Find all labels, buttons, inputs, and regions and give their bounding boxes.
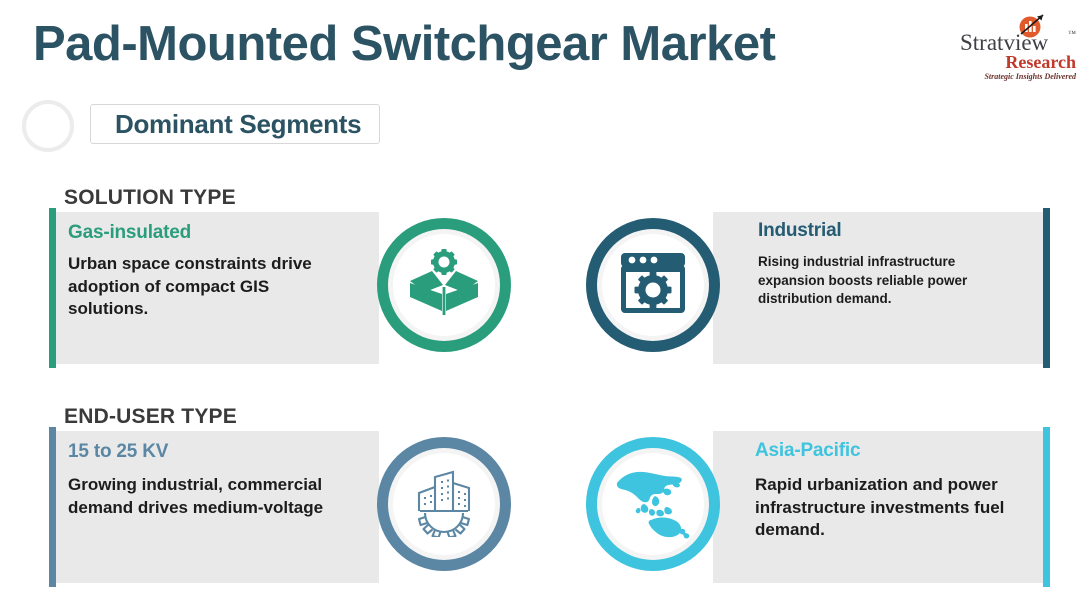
segment-value: Industrial	[758, 220, 842, 242]
segment-value: Gas-insulated	[68, 222, 191, 244]
trademark-symbol: ™	[1068, 29, 1076, 38]
header: Pad-Mounted Switchgear Market Stratview …	[0, 0, 1092, 95]
segment-description: Rapid urbanization and power infrastruct…	[755, 474, 1027, 542]
segment-heading: SOLUTION TYPE	[64, 186, 236, 210]
segment-accent-bar	[49, 427, 56, 587]
segment-icon-circle	[586, 437, 720, 571]
segment-description: Rising industrial infrastructure expansi…	[758, 253, 1010, 309]
segment-icon-circle	[377, 437, 511, 571]
asia-pacific-map-icon	[611, 463, 695, 546]
logo-research-word: Research	[960, 52, 1078, 73]
segment-icon-circle	[377, 218, 511, 352]
open-box-gear-icon	[407, 249, 481, 322]
buildings-gear-icon	[407, 467, 481, 542]
badge-label: Dominant Segments	[115, 109, 361, 140]
page-title: Pad-Mounted Switchgear Market	[33, 16, 775, 72]
segment-accent-bar	[1043, 427, 1050, 587]
logo-tagline: Strategic Insights Delivered	[960, 72, 1078, 81]
stratview-research-logo: Stratview ™ Research Strategic Insights …	[960, 12, 1078, 80]
segment-description: Urban space constraints drive adoption o…	[68, 253, 336, 321]
segment-description: Growing industrial, commercial demand dr…	[68, 474, 340, 519]
segment-value: 15 to 25 KV	[68, 441, 168, 463]
segment-value: Asia-Pacific	[755, 440, 860, 462]
segment-accent-bar	[1043, 208, 1050, 368]
segment-accent-bar	[49, 208, 56, 368]
segment-icon-circle	[586, 218, 720, 352]
badge-circle	[22, 100, 74, 152]
segment-heading: END-USER TYPE	[64, 405, 237, 429]
badge-box: Dominant Segments	[90, 104, 380, 144]
browser-window-gear-icon	[620, 252, 686, 319]
